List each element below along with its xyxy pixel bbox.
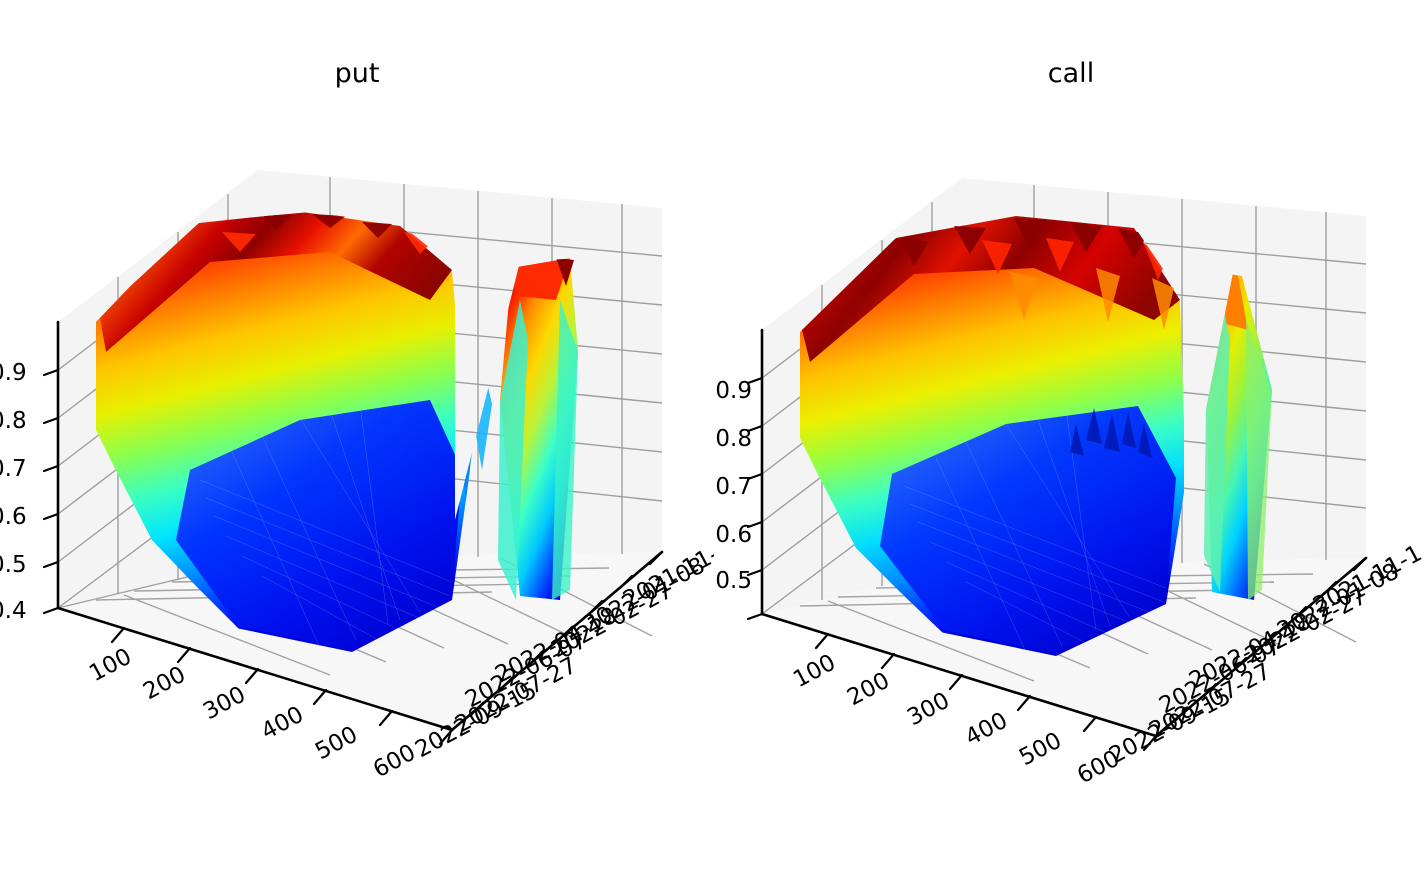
subplot-put[interactable]: put: [0, 0, 714, 886]
ztick-put-0: 0.9: [0, 362, 27, 385]
matplotlib-figure: put: [0, 0, 1428, 886]
ztick-call-0: 0.9: [714, 380, 752, 403]
axes3d-call: [714, 0, 1428, 886]
ztick-put-5: 0.4: [0, 600, 27, 623]
ztick-call-1: 0.8: [714, 428, 752, 451]
axes3d-put: [0, 0, 714, 886]
ztick-call-4: 0.5: [714, 570, 752, 593]
ztick-put-1: 0.8: [0, 410, 27, 433]
subplot-call-clip: call: [714, 0, 1428, 886]
ztick-call-3: 0.6: [714, 524, 752, 547]
subplot-put-clip: put: [0, 0, 714, 886]
ztick-put-4: 0.5: [0, 554, 27, 577]
ztick-put-2: 0.7: [0, 458, 27, 481]
ztick-call-2: 0.7: [714, 476, 752, 499]
ztick-put-3: 0.6: [0, 506, 27, 529]
subplot-call[interactable]: call: [714, 0, 1428, 886]
